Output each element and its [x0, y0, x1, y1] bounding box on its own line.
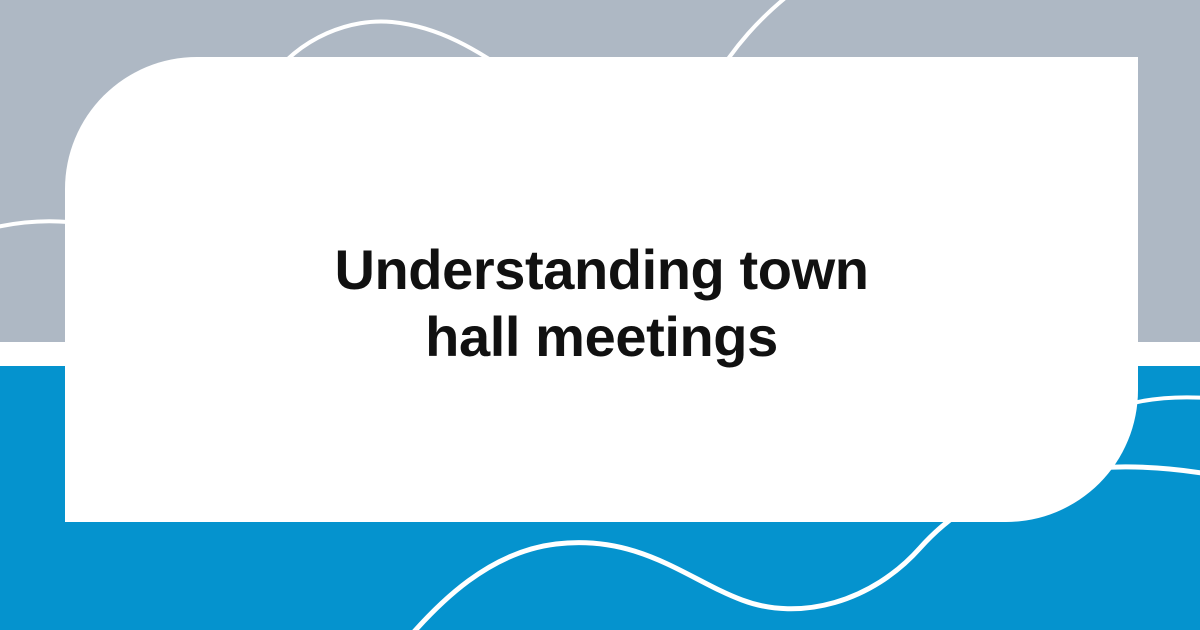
headline-card: Understanding town hall meetings [65, 57, 1138, 522]
page-title: Understanding town hall meetings [302, 237, 902, 369]
left-wave-line [0, 221, 68, 228]
social-card-canvas: Understanding town hall meetings [0, 0, 1200, 630]
